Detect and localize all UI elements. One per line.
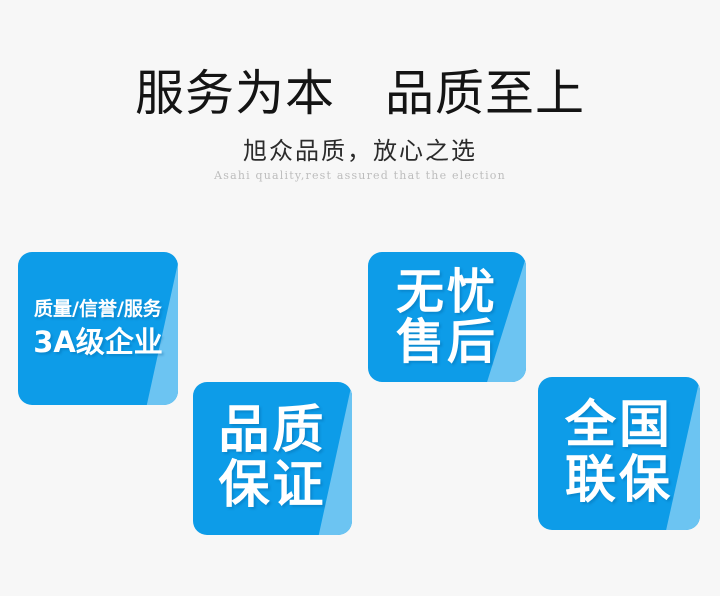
badge-label-line-a: 无忧 (396, 268, 498, 317)
badge-label-line-b: 售后 (396, 318, 498, 367)
subtitle-chinese: 旭众品质，放心之选 (0, 136, 720, 166)
badge-label-line-b: 3A级企业 (33, 328, 163, 358)
badge-3a-enterprise: 质量/信誉/服务 3A级企业 (18, 252, 178, 405)
badge-label-line-a: 品质 (218, 405, 326, 457)
badge-label-line-b: 保证 (218, 460, 326, 512)
badge-label-group: 质量/信誉/服务 3A级企业 (18, 252, 178, 405)
badge-nationwide-joint-warranty: 全国 联保 (538, 377, 700, 530)
badge-label-group: 全国 联保 (538, 377, 700, 530)
promo-banner: 服务为本 品质至上 旭众品质，放心之选 Asahi quality,rest a… (0, 0, 720, 596)
badge-label-line-a: 质量/信誉/服务 (34, 300, 162, 319)
subtitle-english: Asahi quality,rest assured that the elec… (0, 168, 720, 184)
badge-quality-guarantee: 品质 保证 (193, 382, 352, 535)
badge-label-group: 无忧 售后 (368, 252, 526, 382)
badge-worry-free-after-sales: 无忧 售后 (368, 252, 526, 382)
badge-label-line-a: 全国 (565, 400, 673, 452)
page-headline: 服务为本 品质至上 (0, 64, 720, 124)
badge-label-group: 品质 保证 (193, 382, 352, 535)
badge-label-line-b: 联保 (565, 455, 673, 507)
